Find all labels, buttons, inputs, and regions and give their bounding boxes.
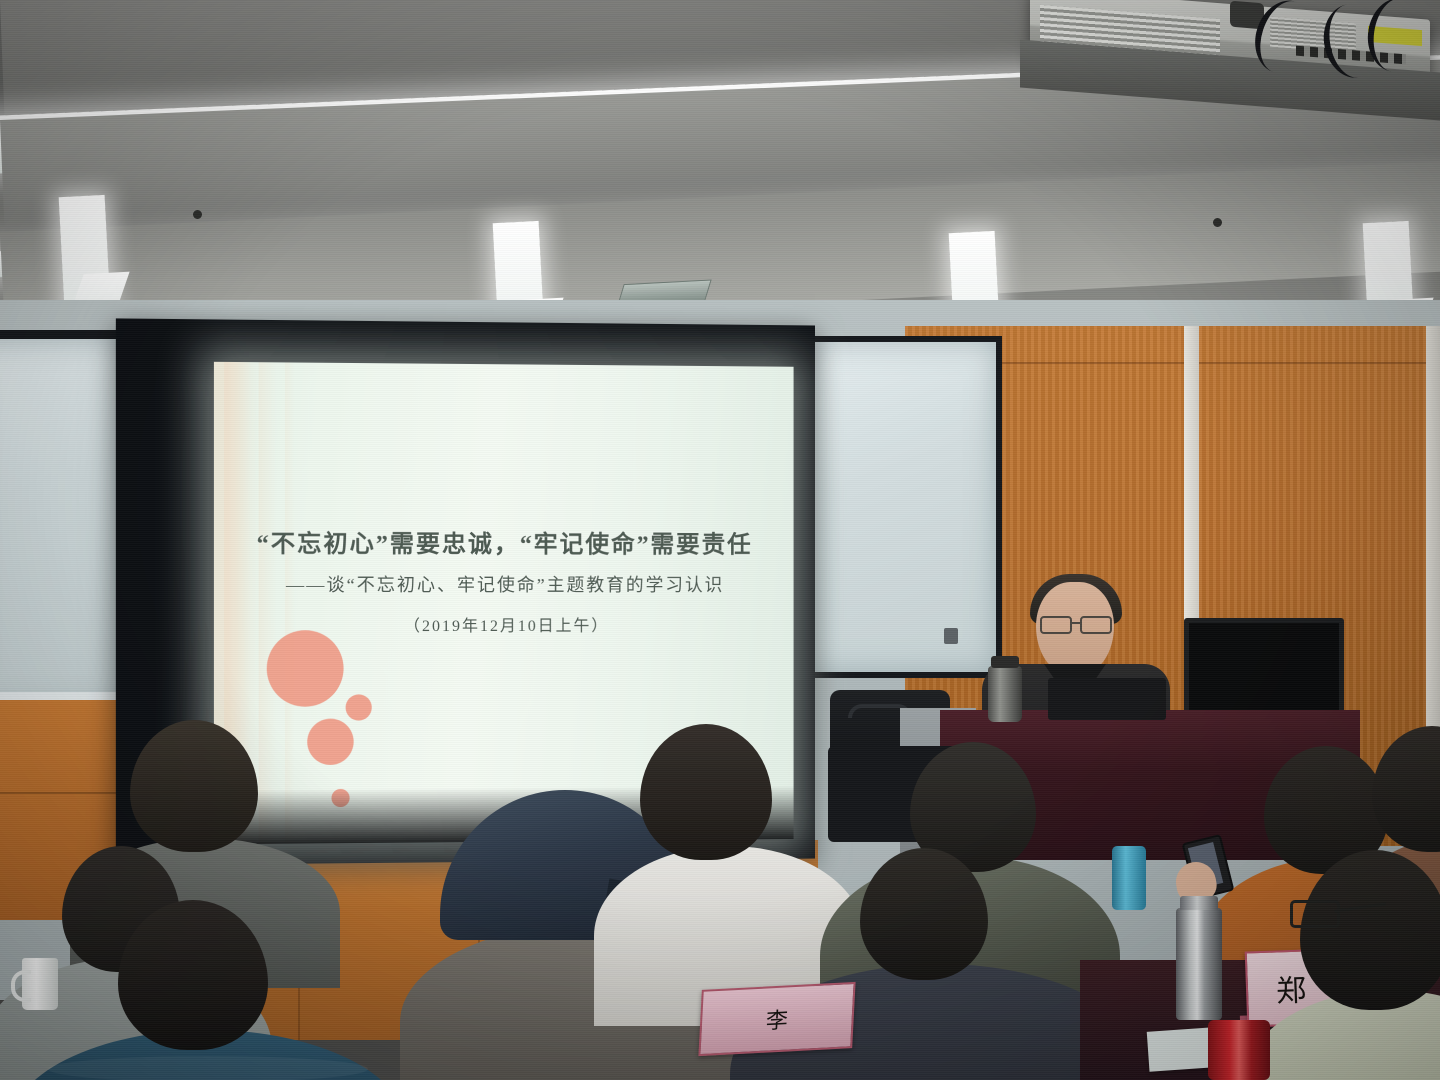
slide-title: “不忘初心”需要忠诚，“牢记使命”需要责任 xyxy=(214,523,794,559)
podium-monitor[interactable] xyxy=(1048,678,1166,720)
white-mug xyxy=(22,958,58,1010)
slide-subtitle: ——谈“不忘初心、牢记使命”主题教育的学习认识 xyxy=(214,571,794,597)
red-thermos xyxy=(1208,1020,1270,1080)
blue-water-bottle xyxy=(1112,846,1146,910)
silver-thermos xyxy=(1176,908,1222,1020)
glasses-bridge xyxy=(1070,622,1082,624)
smoke-detector-icon xyxy=(193,210,202,219)
podium-thermos xyxy=(988,666,1022,722)
desk-monitor[interactable] xyxy=(1184,618,1344,724)
ceiling-projector xyxy=(1020,0,1440,104)
puffer-seam xyxy=(48,1056,368,1080)
name-card-front: 李 xyxy=(698,982,855,1056)
mug-handle xyxy=(11,970,31,1002)
glasses-icon xyxy=(1040,616,1112,630)
screen-light-streak xyxy=(259,362,277,844)
glasses-icon xyxy=(1290,900,1386,922)
slide-decor-circle-medium xyxy=(307,719,353,765)
slide-decor-circle-small xyxy=(346,694,372,720)
slide-decor-circle-large xyxy=(267,630,344,707)
lecture-room-photo: “不忘初心”需要忠诚，“牢记使命”需要责任 ——谈“不忘初心、牢记使命”主题教育… xyxy=(0,0,1440,1080)
screen-light-streak xyxy=(285,362,295,843)
smoke-detector-icon xyxy=(1213,218,1222,227)
